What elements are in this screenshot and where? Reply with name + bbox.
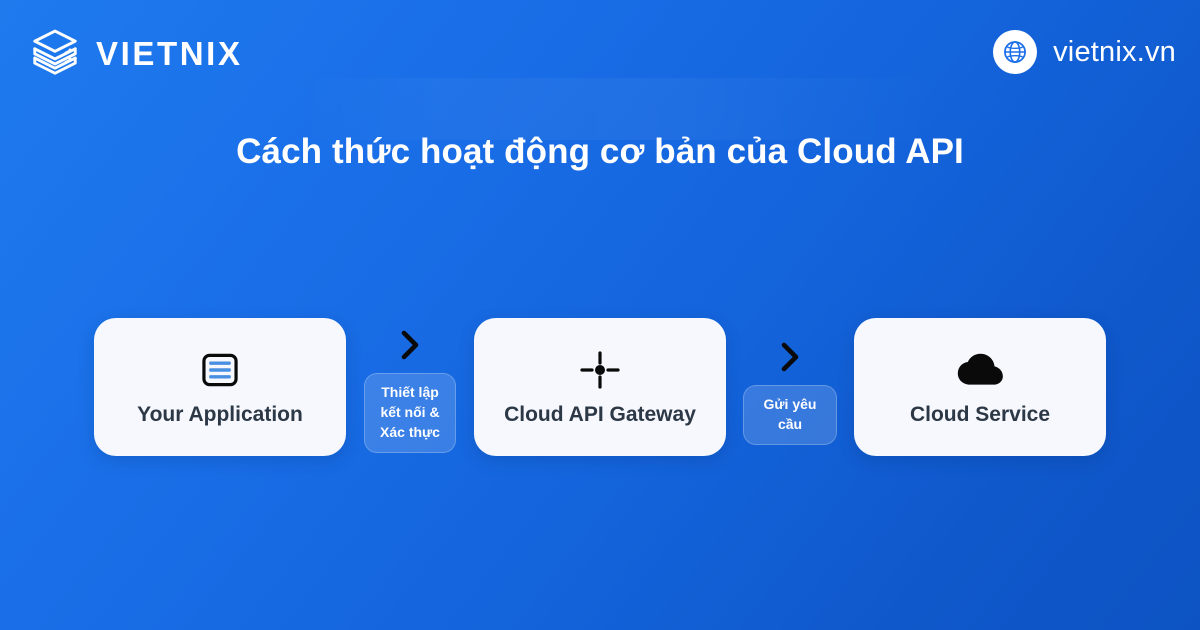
site-url-block[interactable]: vietnix.vn: [993, 30, 1176, 74]
flow-step-label: Cloud Service: [910, 404, 1050, 425]
chevron-right-icon: [397, 328, 423, 367]
flow-diagram: Your Application Thiết lập kết nối & Xác…: [0, 318, 1200, 463]
flow-step-cloud-service[interactable]: Cloud Service: [854, 318, 1106, 456]
flow-step-cloud-api-gateway[interactable]: Cloud API Gateway: [474, 318, 726, 456]
flow-step-your-application[interactable]: Your Application: [94, 318, 346, 456]
globe-icon: [993, 30, 1037, 74]
gateway-hub-crosshair-icon: [578, 350, 622, 390]
brand-name: VIETNIX: [96, 37, 243, 70]
flow-connector-label: Gửi yêu cầu: [743, 385, 837, 445]
flow-step-label: Your Application: [137, 404, 303, 425]
stacked-servers-icon: [28, 26, 82, 80]
page-title: Cách thức hoạt động cơ bản của Cloud API: [0, 130, 1200, 174]
flow-connector-send-request: Gửi yêu cầu: [726, 318, 854, 445]
app-window-lines-icon: [201, 350, 239, 390]
infographic-canvas: VIETNIX vietnix.vn Cách thức hoạt động c…: [0, 0, 1200, 630]
flow-step-label: Cloud API Gateway: [504, 404, 696, 425]
flow-connector-setup-connection-auth: Thiết lập kết nối & Xác thực: [346, 318, 474, 453]
cloud-icon: [955, 350, 1005, 390]
brand-logo[interactable]: VIETNIX: [28, 26, 243, 80]
site-url-text: vietnix.vn: [1053, 38, 1176, 67]
chevron-right-icon: [777, 340, 803, 379]
flow-connector-label: Thiết lập kết nối & Xác thực: [364, 373, 456, 453]
